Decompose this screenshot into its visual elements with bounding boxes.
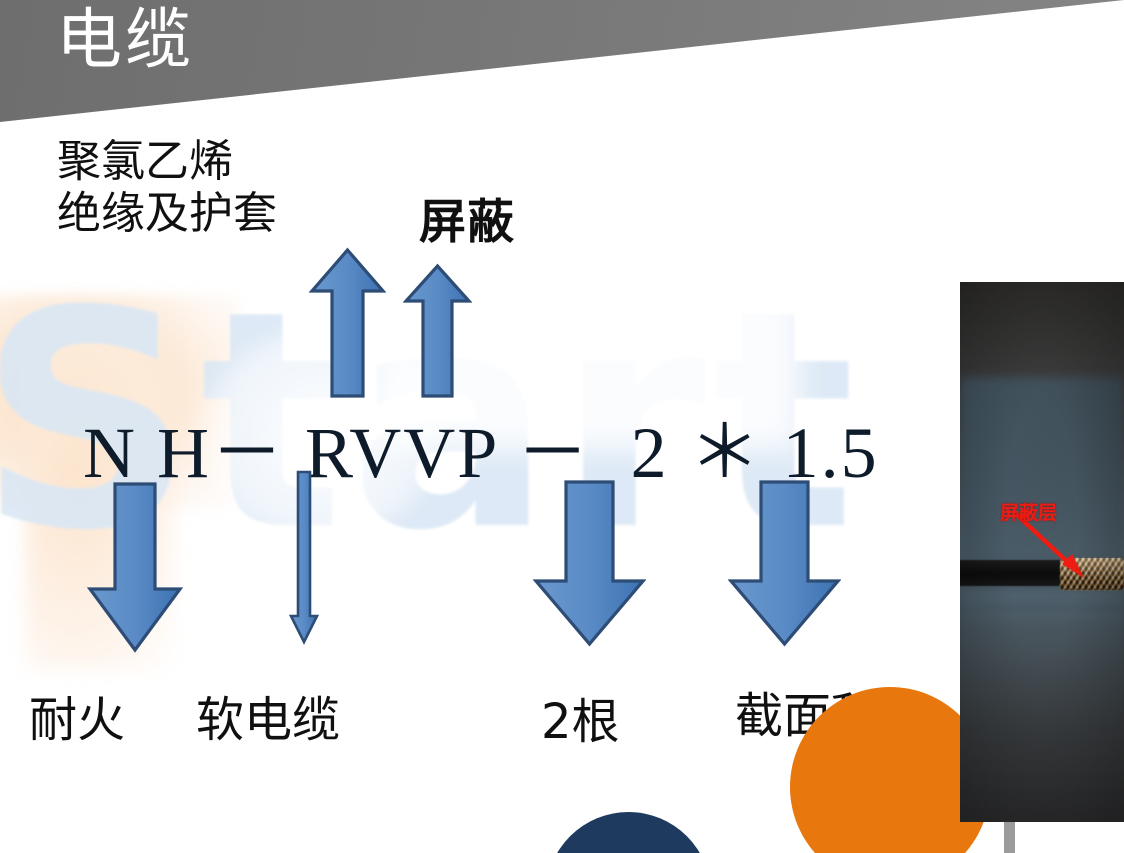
arrow-down-fire-resistant — [87, 481, 183, 653]
photo-vignette — [960, 282, 1124, 822]
arrow-down-cross-section — [728, 479, 841, 647]
label-fire-resistant: 耐火 — [29, 692, 125, 748]
label-shield: 屏蔽 — [419, 195, 515, 250]
label-insulation-line1: 聚氯乙烯 — [57, 136, 233, 187]
label-insulation: 聚氯乙烯绝缘及护套 — [57, 136, 277, 240]
label-flexible-cable: 软电缆 — [196, 692, 340, 748]
photo-stem-bar — [1004, 822, 1015, 853]
arrow-down-flexible-cable — [288, 470, 320, 645]
arrow-up-insulation — [309, 247, 386, 399]
page-title: 电缆 — [56, 2, 194, 78]
decorative-circle-navy — [546, 812, 711, 853]
label-insulation-line2: 绝缘及护套 — [57, 188, 277, 239]
label-core-count: 2根 — [541, 694, 620, 750]
arrow-down-core-count — [533, 479, 646, 647]
arrow-up-shield — [403, 263, 472, 399]
shielded-cable-photo: 屏蔽层 — [960, 282, 1124, 822]
slide-canvas: Start 电缆 聚氯乙烯绝缘及护套 屏蔽 — [0, 0, 1124, 853]
